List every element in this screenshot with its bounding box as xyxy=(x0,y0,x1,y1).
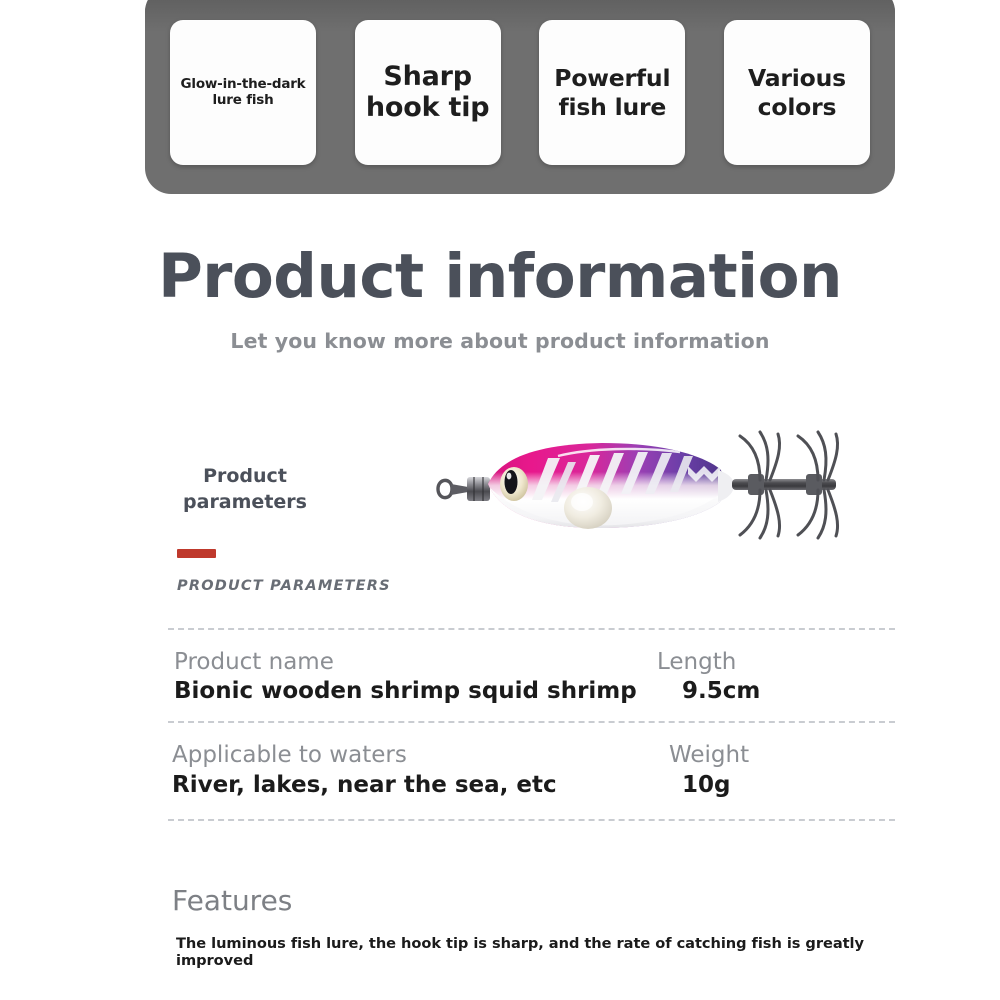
feature-card-sharp-hook-tip[interactable]: Sharp hook tip xyxy=(355,20,501,165)
feature-banner: Glow-in-the-dark lure fish Sharp hook ti… xyxy=(145,0,895,194)
features-text: The luminous fish lure, the hook tip is … xyxy=(176,935,899,969)
table-row: Product name Bionic wooden shrimp squid … xyxy=(168,630,895,721)
feature-card-label: Glow-in-the-dark lure fish xyxy=(176,77,310,108)
feature-card-glow-in-the-dark[interactable]: Glow-in-the-dark lure fish xyxy=(170,20,316,165)
parameter-label: Product name xyxy=(168,648,648,677)
feature-card-various-colors[interactable]: Various colors xyxy=(724,20,870,165)
feature-card-label: Powerful fish lure xyxy=(545,64,679,120)
parameters-eyebrow: PRODUCT PARAMETERS xyxy=(177,578,391,594)
features-section: Features The luminous fish lure, the hoo… xyxy=(172,886,899,969)
table-divider-bottom xyxy=(168,819,895,821)
parameter-value: Bionic wooden shrimp squid shrimp xyxy=(168,677,648,707)
lure-body xyxy=(488,443,734,532)
parameter-value: River, lakes, near the sea, etc xyxy=(168,771,648,801)
parameter-cell-product-name: Product name Bionic wooden shrimp squid … xyxy=(168,648,648,707)
parameter-cell-applicable-waters: Applicable to waters River, lakes, near … xyxy=(168,741,648,800)
feature-card-powerful-fish-lure[interactable]: Powerful fish lure xyxy=(539,20,685,165)
parameter-label: Length xyxy=(648,648,895,677)
crown-hooks xyxy=(732,432,838,538)
feature-card-label: Sharp hook tip xyxy=(361,62,495,123)
features-title: Features xyxy=(172,886,899,917)
accent-bar xyxy=(177,549,216,558)
feature-card-label: Various colors xyxy=(730,64,864,120)
parameter-cell-weight: Weight 10g xyxy=(648,741,895,800)
table-row: Applicable to waters River, lakes, near … xyxy=(168,723,895,818)
swivel-barrel xyxy=(467,477,490,501)
parameter-label: Weight xyxy=(648,741,895,770)
parameter-cell-length: Length 9.5cm xyxy=(648,648,895,707)
product-showcase: Product parameters xyxy=(0,420,1000,560)
parameter-label: Applicable to waters xyxy=(168,741,648,770)
page-subtitle: Let you know more about product informat… xyxy=(0,329,1000,353)
feature-card-list: Glow-in-the-dark lure fish Sharp hook ti… xyxy=(170,20,870,165)
squid-jig-lure-image xyxy=(430,422,880,554)
parameter-value: 9.5cm xyxy=(648,677,895,707)
parameters-table: Product name Bionic wooden shrimp squid … xyxy=(168,628,895,821)
product-parameters-caption: Product parameters xyxy=(170,464,320,515)
page-title: Product information xyxy=(0,246,1000,307)
parameter-value: 10g xyxy=(648,771,895,801)
swivel-ring-icon xyxy=(437,480,469,497)
lure-eye xyxy=(500,467,528,501)
section-heading: Product information Let you know more ab… xyxy=(0,246,1000,353)
